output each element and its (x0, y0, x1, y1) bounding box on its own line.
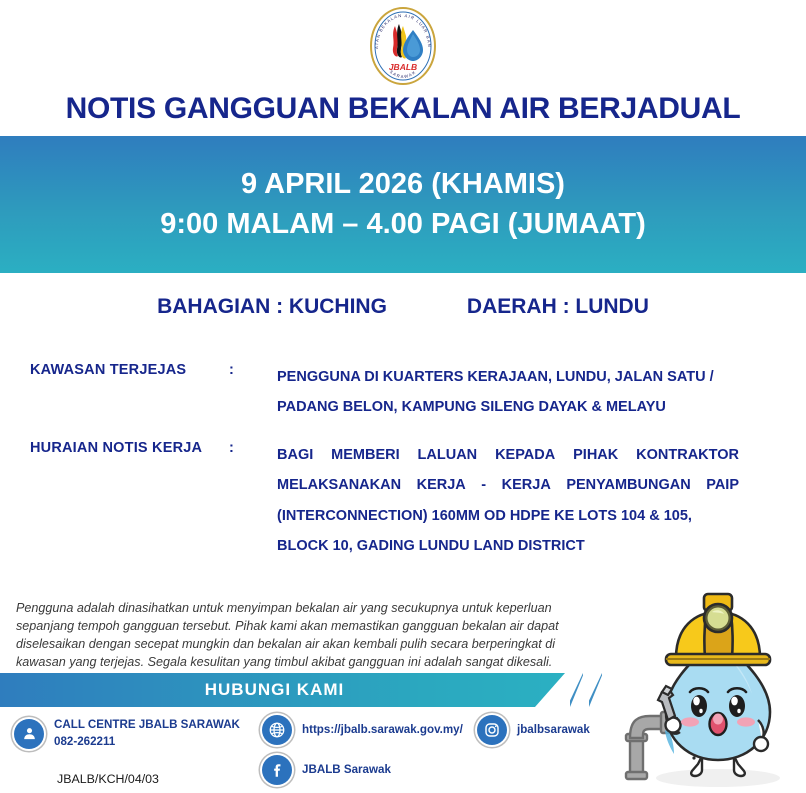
affected-area-label: KAWASAN TERJEJAS (30, 362, 230, 378)
globe-icon (262, 715, 292, 745)
call-centre-name: CALL CENTRE JBALB SARAWAK (54, 717, 240, 734)
contact-instagram[interactable]: jbalbsarawak (477, 715, 590, 745)
work-description-value: BAGIMEMBERILALUANKEPADAPIHAKKONTRAKTOR M… (277, 440, 739, 562)
affected-area-line-2: PADANG BELON, KAMPUNG SILENG DAYAK & MEL… (277, 392, 739, 422)
work-description-line-2: MELAKSANAKANKERJA-KERJAPENYAMBUNGANPAIP (277, 470, 739, 500)
work-description-line-3: (INTERCONNECTION) 160MM OD HDPE KE LOTS … (277, 501, 739, 531)
svg-text:JBALB: JBALB (389, 62, 417, 72)
banner-slash-2 (589, 673, 602, 707)
date-time-banner: 9 APRIL 2026 (KHAMIS) 9:00 MALAM – 4.00 … (0, 136, 806, 273)
jbalb-sarawak-logo: JABATAN BEKALAN AIR LUAR BANDAR SARAWAK … (365, 6, 441, 86)
contact-call-centre[interactable]: CALL CENTRE JBALB SARAWAK 082-262211 (14, 717, 240, 751)
call-centre-phone: 082-262211 (54, 734, 240, 751)
contact-list: CALL CENTRE JBALB SARAWAK 082-262211 htt… (0, 715, 620, 793)
banner-slash-1 (570, 673, 583, 707)
bahagian-label: BAHAGIAN : KUCHING (157, 295, 387, 319)
page-title: NOTIS GANGGUAN BEKALAN AIR BERJADUAL (0, 92, 806, 126)
work-description-line-1: BAGIMEMBERILALUANKEPADAPIHAKKONTRAKTOR (277, 440, 739, 470)
work-description-line-4: BLOCK 10, GADING LUNDU LAND DISTRICT (277, 531, 739, 561)
instagram-handle: jbalbsarawak (517, 722, 590, 739)
website-url: https://jbalb.sarawak.gov.my/ (302, 722, 463, 739)
contact-banner-bar: HUBUNGI KAMI (0, 673, 565, 707)
contact-banner-title: HUBUNGI KAMI (205, 680, 345, 700)
facebook-handle: JBALB Sarawak (302, 762, 391, 779)
water-droplet-worker-mascot (606, 588, 806, 793)
contact-banner: HUBUNGI KAMI (0, 673, 615, 707)
affected-area-value: PENGGUNA DI KUARTERS KERAJAAN, LUNDU, JA… (277, 362, 739, 423)
affected-area-line-1: PENGGUNA DI KUARTERS KERAJAAN, LUNDU, JA… (277, 362, 739, 392)
notice-time: 9:00 MALAM – 4.00 PAGI (JUMAAT) (160, 205, 646, 244)
person-icon (14, 719, 44, 749)
contact-website[interactable]: https://jbalb.sarawak.gov.my/ (262, 715, 463, 745)
notice-page: JABATAN BEKALAN AIR LUAR BANDAR SARAWAK … (0, 0, 806, 793)
contact-facebook[interactable]: JBALB Sarawak (262, 755, 391, 785)
division-row: BAHAGIAN : KUCHING DAERAH : LUNDU (0, 295, 806, 319)
instagram-icon (477, 715, 507, 745)
logo-container: JABATAN BEKALAN AIR LUAR BANDAR SARAWAK … (0, 6, 806, 86)
facebook-icon (262, 755, 292, 785)
notice-date: 9 APRIL 2026 (KHAMIS) (241, 165, 565, 204)
reference-number: JBALB/KCH/04/03 (57, 772, 159, 786)
affected-area-colon: : (229, 362, 234, 378)
daerah-label: DAERAH : LUNDU (467, 295, 649, 319)
advisory-paragraph: Pengguna adalah dinasihatkan untuk menyi… (16, 600, 592, 672)
work-description-label: HURAIAN NOTIS KERJA (30, 440, 230, 456)
work-description-colon: : (229, 440, 234, 456)
